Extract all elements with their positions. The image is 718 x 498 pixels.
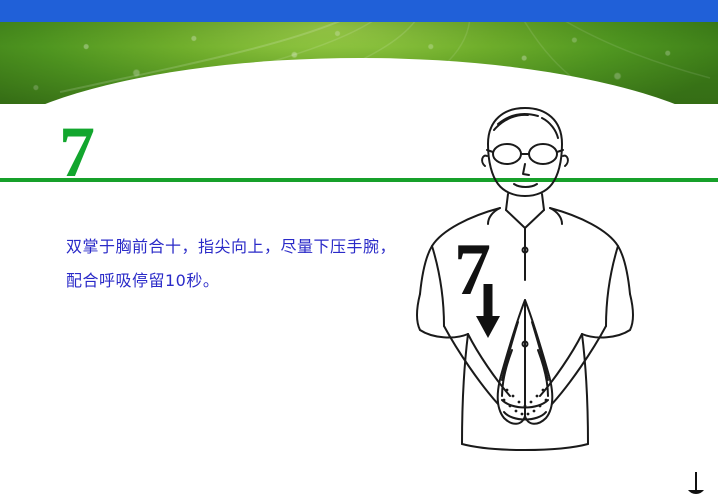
exercise-illustration: 7 bbox=[392, 104, 692, 484]
exercise-line-drawing: 7 bbox=[392, 104, 692, 484]
step-number: 7 bbox=[59, 116, 95, 188]
slide-content: 7 双掌于胸前合十，指尖向上，尽量下压手腕，配合呼吸停留10秒。 bbox=[0, 104, 718, 498]
slide-root: 7 双掌于胸前合十，指尖向上，尽量下压手腕，配合呼吸停留10秒。 bbox=[0, 0, 718, 498]
top-blue-bar bbox=[0, 0, 718, 22]
instruction-text: 双掌于胸前合十，指尖向上，尽量下压手腕，配合呼吸停留10秒。 bbox=[66, 230, 396, 298]
corner-mark-icon bbox=[682, 470, 710, 498]
top-blue-bar-fill bbox=[0, 0, 718, 22]
